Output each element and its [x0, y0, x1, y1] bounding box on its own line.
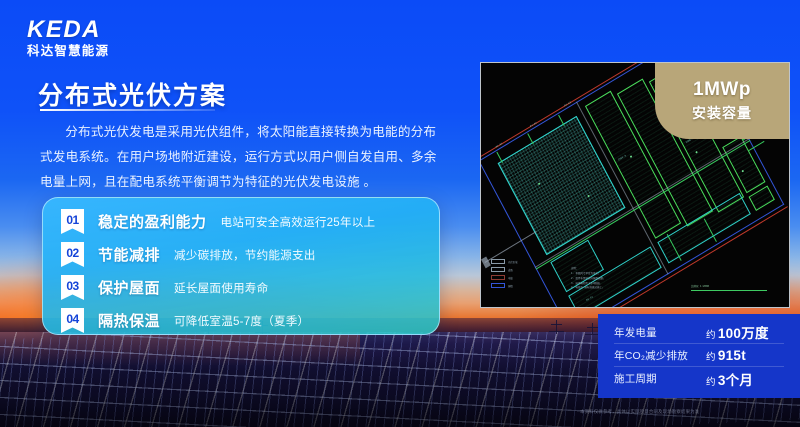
stat-number: 100万度 — [718, 326, 769, 341]
legend-swatch — [491, 275, 505, 280]
feature-description: 延长屋面使用寿命 — [174, 280, 268, 296]
stat-prefix: 约 — [706, 330, 716, 341]
stat-row: 施工周期 约3个月 — [614, 367, 784, 390]
stat-row: 年CO₂减少排放 约915t — [614, 344, 784, 367]
stat-number: 3个月 — [718, 373, 753, 388]
stat-row: 年发电量 约100万度 — [614, 321, 784, 344]
pylon-icon — [556, 320, 557, 334]
feature-title: 稳定的盈利能力 — [98, 211, 207, 232]
feature-number: 02 — [66, 247, 78, 259]
feature-row[interactable]: 03 保护屋面 延长屋面使用寿命 — [43, 271, 439, 304]
stat-prefix: 约 — [706, 377, 716, 388]
capacity-value: 1MWp — [693, 79, 751, 101]
feature-number-badge: 01 — [61, 209, 84, 234]
feature-number-badge: 03 — [61, 275, 84, 300]
stat-label: 年CO₂减少排放 — [614, 348, 706, 363]
capacity-label: 安装容量 — [692, 103, 752, 123]
brand-logo: KEDA 科达智慧能源 — [27, 18, 147, 58]
pylon-icon — [592, 323, 593, 334]
slide-canvas: KEDA 科达智慧能源 分布式光伏方案 分布式光伏发电是采用光伏组件，将太阳能直… — [0, 0, 800, 427]
cad-scale-label: 比例尺 1:2000 — [691, 284, 767, 288]
feature-number-badge: 04 — [61, 308, 84, 333]
legend-swatch — [491, 267, 505, 272]
feature-number-badge: 02 — [61, 242, 84, 267]
feature-title: 保护屋面 — [98, 277, 160, 298]
feature-description: 减少碳排放，节约能源支出 — [174, 247, 316, 263]
legend-label: 道路 — [508, 268, 513, 272]
legend-label: 电缆 — [508, 276, 513, 280]
feature-description: 电站可安全高效运行25年以上 — [221, 214, 376, 230]
feature-list-panel: 01 稳定的盈利能力 电站可安全高效运行25年以上 02 节能减排 减少碳排放，… — [42, 197, 440, 335]
cad-site-plan[interactable]: PV-01 PV-02 PV-03 ZONE-A ZONE-B BOX-1 BO… — [480, 62, 790, 308]
footer-disclaimer: 本资料仅供参考，具体以实际项目合同及现场勘察结果为准 — [580, 409, 780, 415]
feature-number: 01 — [66, 214, 78, 226]
stat-number: 915t — [718, 348, 746, 363]
capacity-badge: 1MWp 安装容量 — [655, 63, 789, 139]
legend-swatch — [491, 283, 505, 288]
cad-legend: 光伏区域 道路 电缆 围墙 — [491, 259, 553, 291]
legend-label: 围墙 — [508, 284, 513, 288]
hero-paragraph: 分布式光伏发电是采用光伏组件，将太阳能直接转换为电能的分布式发电系统。在用户场地… — [40, 120, 443, 196]
title-underline — [40, 109, 215, 111]
logo-company-name: 科达智慧能源 — [27, 45, 147, 58]
feature-number: 03 — [66, 280, 78, 292]
page-title: 分布式光伏方案 — [38, 76, 227, 112]
stat-label: 施工周期 — [614, 371, 706, 386]
feature-description: 可降低室温5-7度（夏季） — [174, 313, 309, 329]
stat-value: 约100万度 — [706, 322, 769, 342]
feature-title: 隔热保温 — [98, 310, 160, 331]
scale-bar-line — [691, 290, 767, 291]
legend-swatch — [491, 259, 505, 264]
stat-value: 约915t — [706, 348, 746, 363]
stats-panel: 年发电量 约100万度 年CO₂减少排放 约915t 施工周期 约3个月 — [598, 314, 800, 398]
stat-label: 年发电量 — [614, 325, 706, 340]
stat-prefix: 约 — [706, 352, 716, 363]
cad-scale-bar: 比例尺 1:2000 — [691, 284, 767, 291]
feature-number: 04 — [66, 313, 78, 325]
logo-wordmark: KEDA — [27, 18, 147, 42]
feature-row[interactable]: 01 稳定的盈利能力 电站可安全高效运行25年以上 — [43, 205, 439, 238]
feature-row[interactable]: 02 节能减排 减少碳排放，节约能源支出 — [43, 238, 439, 271]
stat-value: 约3个月 — [706, 369, 753, 389]
feature-row[interactable]: 04 隔热保温 可降低室温5-7度（夏季） — [43, 304, 439, 335]
cad-note-line: 4. 电缆沟 按标准做法施工。 — [571, 286, 691, 291]
legend-label: 光伏区域 — [508, 260, 518, 264]
cad-notes: 说明： 1. 本图尺寸单位为毫米。 2. 组件布置按实际屋面调整。 3. 接地电… — [571, 267, 691, 291]
feature-title: 节能减排 — [98, 244, 160, 265]
